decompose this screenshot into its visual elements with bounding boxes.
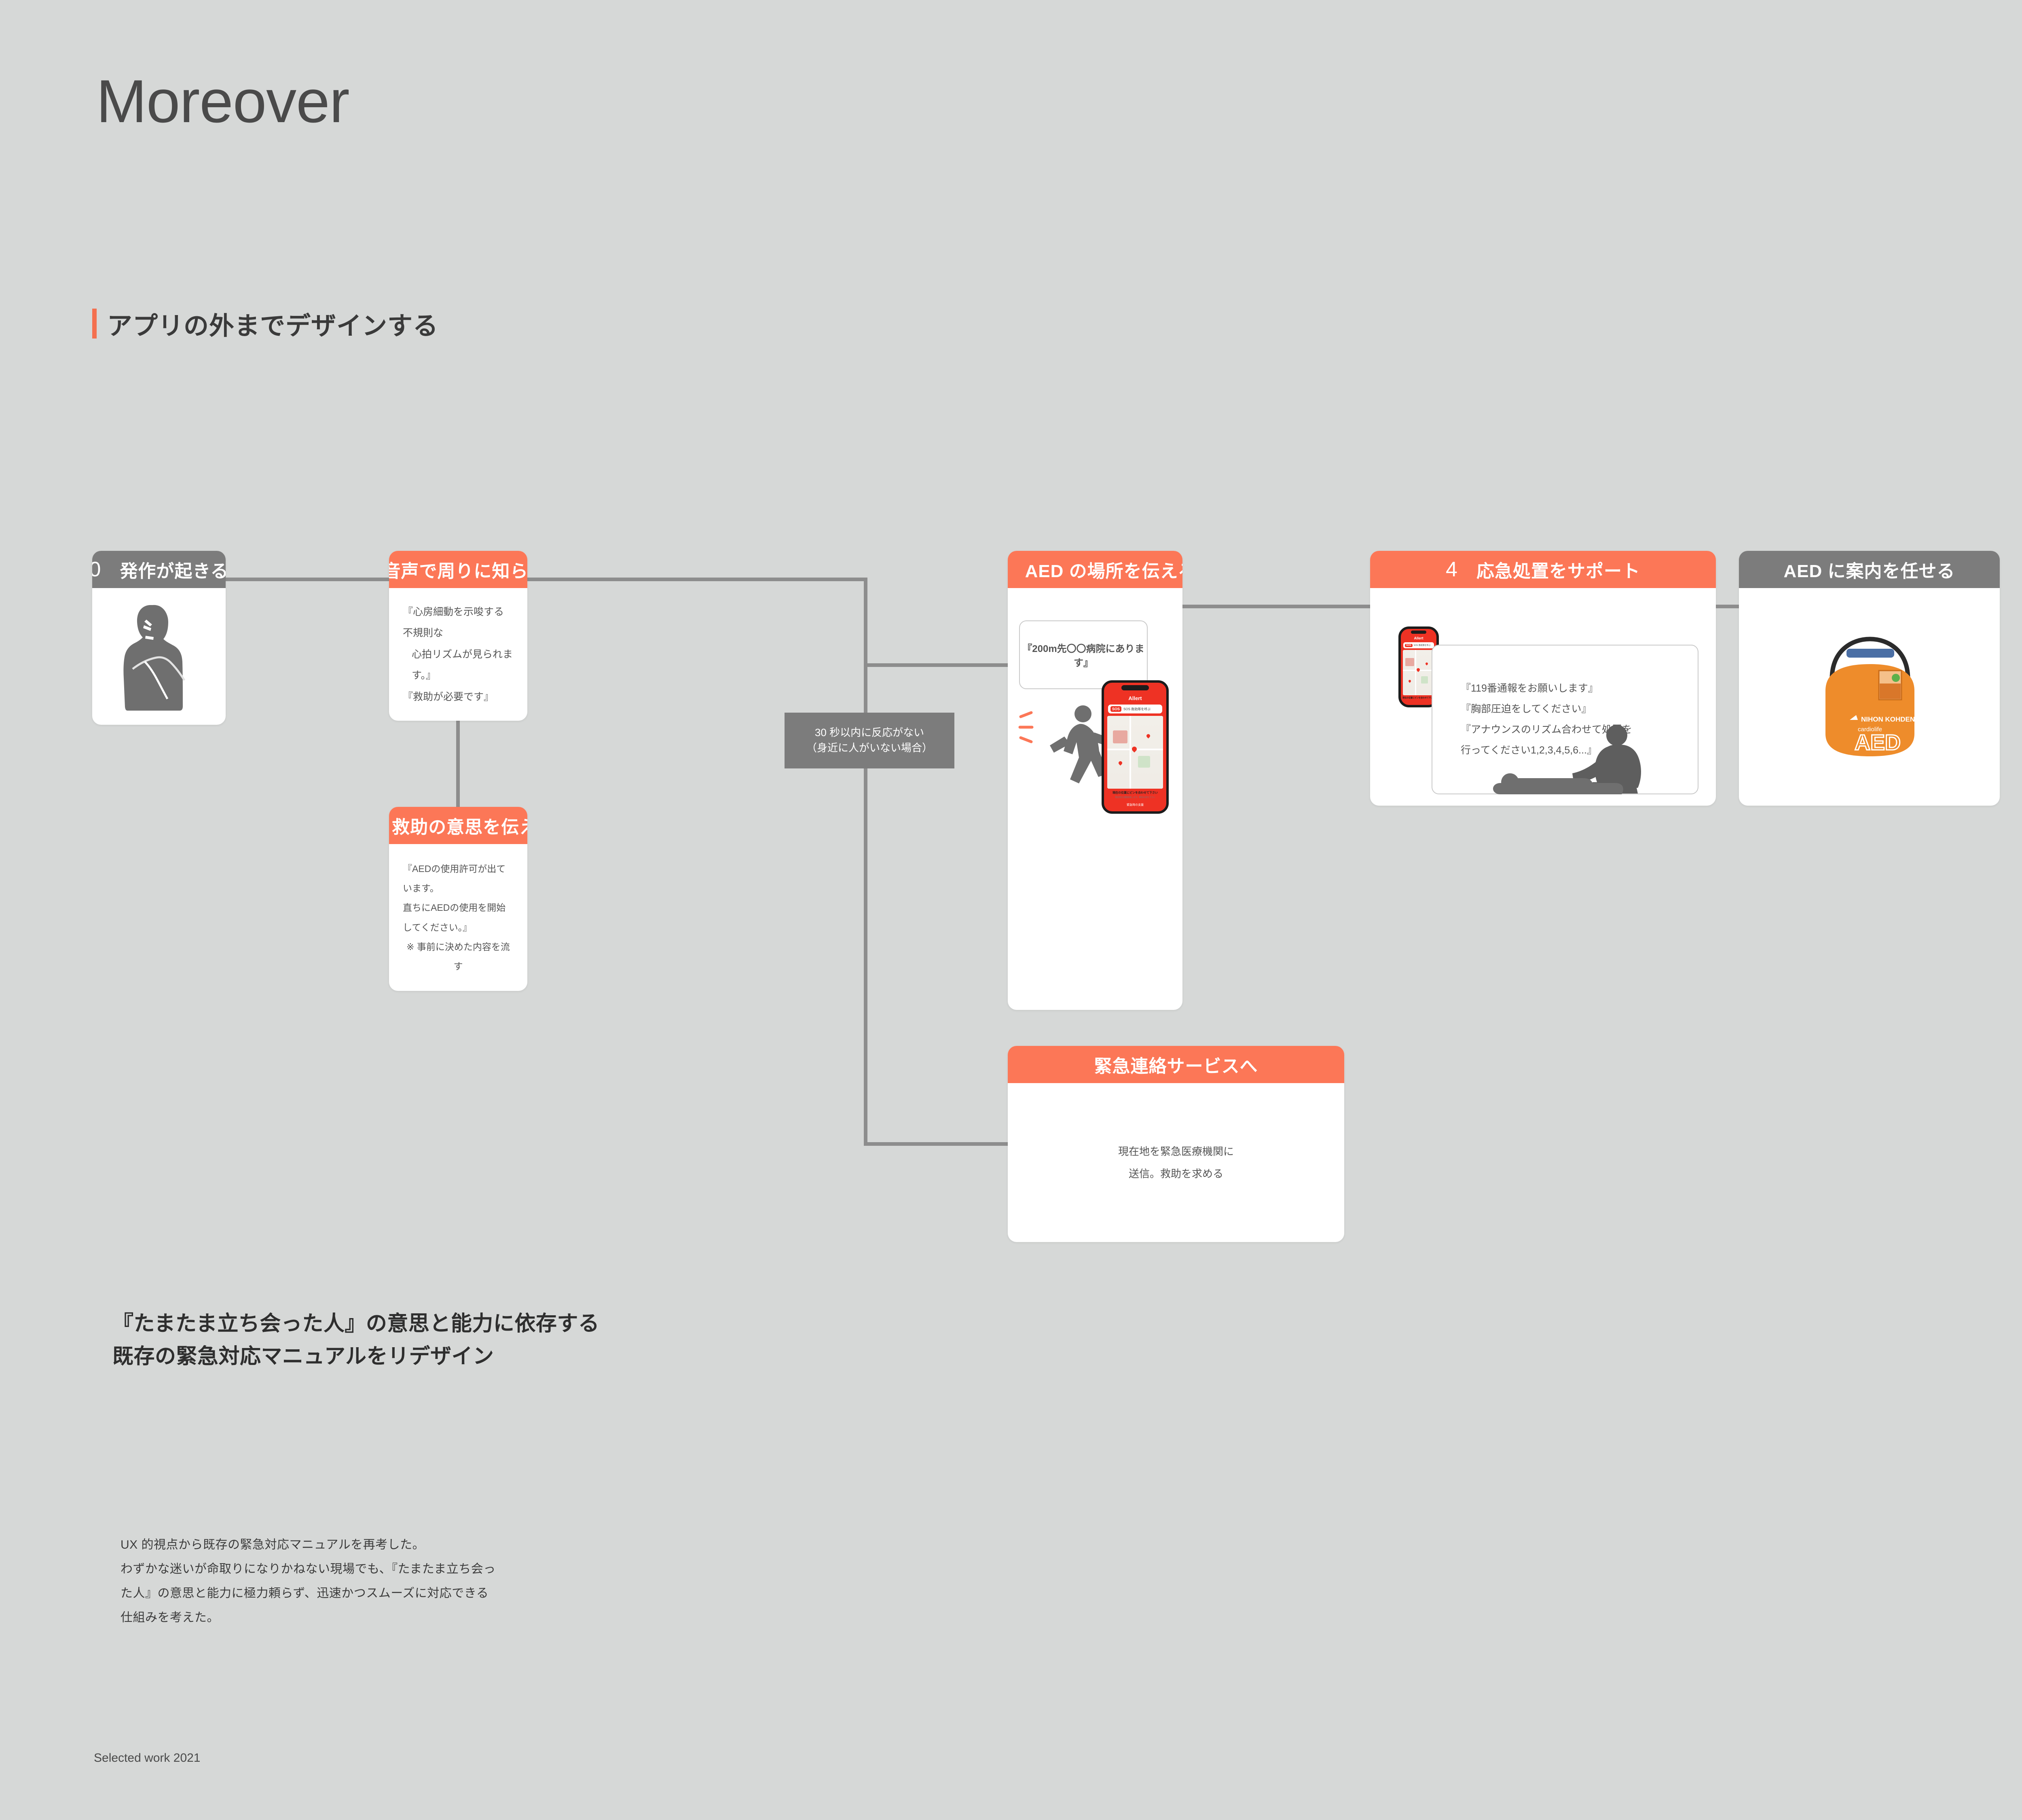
flow-card-3-balloon: 『200m先〇〇病院にあります』 <box>1019 620 1148 689</box>
chest-pain-person-icon <box>121 602 197 711</box>
flow-card-aed-caption: AED に案内を任せる <box>1739 551 2000 588</box>
svg-text:NIHON KOHDEN: NIHON KOHDEN <box>1861 715 1915 723</box>
quote-line: ※ 事前に決めた内容を流す <box>403 937 514 976</box>
phone-app-name: Allert <box>1401 636 1436 640</box>
left-lead-copy: 『たまたま立ち会った人』の意思と能力に依存する 既存の緊急対応マニュアルをリデザ… <box>112 1308 599 1373</box>
lead-line: 既存の緊急対応マニュアルをリデザイン <box>112 1340 599 1373</box>
accent-bar-icon <box>92 309 97 339</box>
flow-card-4-title: 応急処置をサポート <box>1476 557 1640 582</box>
flow-card-0-caption: 0 発作が起きる <box>92 551 226 588</box>
svg-text:AED: AED <box>1855 730 1901 755</box>
flow-card-4-caption: 4 応急処置をサポート <box>1370 551 1716 588</box>
flow-card-emergency-body: 現在地を緊急医療機関に 送信。救助を求める <box>1008 1083 1344 1242</box>
decision-label: 30 秒以内に反応がない （身近に人がいない場合） <box>785 713 954 768</box>
phone-notch-icon <box>1411 631 1427 634</box>
phone-notch-icon <box>1121 685 1149 690</box>
phone-map-caption: 現在の位置にピンを合わせて下さい <box>1104 791 1166 795</box>
flow-card-2-title: 救助の意思を伝える <box>392 813 527 838</box>
flow-card-emergency[interactable]: 緊急連絡サービスへ 現在地を緊急医療機関に 送信。救助を求める <box>1008 1046 1344 1242</box>
flow-card-0-number: 0 <box>92 557 101 582</box>
lead-line: 『たまたま立ち会った人』の意思と能力に依存する <box>112 1308 599 1340</box>
flow-card-1-caption: 1 音声で周りに知らせる <box>389 551 527 588</box>
flow-card-3-quote: 『200m先〇〇病院にあります』 <box>1020 641 1147 669</box>
connector-1-to-2 <box>456 721 460 808</box>
quote-line: 現在地を緊急医療機関に <box>1022 1141 1330 1163</box>
flow-card-2-body: 『AEDの使用許可が出ています。 直ちにAEDの使用を開始してください。』 ※ … <box>389 844 527 991</box>
connector-trunk-to-emergency <box>864 1142 1009 1146</box>
page-title: Moreover <box>96 71 349 131</box>
flow-card-emergency-title: 緊急連絡サービスへ <box>1094 1052 1258 1077</box>
quote-line: 心拍リズムが見られます。』 <box>403 644 514 686</box>
section-heading-left-label: アプリの外までデザインする <box>107 305 438 342</box>
connector-1-to-trunk <box>527 578 867 581</box>
quote-line: 『救助が必要です』 <box>403 686 514 708</box>
flow-card-4-body: Allert SOS SOS 救助隊を呼ぶ 現在の位置にピンを合わせて下さい 『… <box>1370 588 1716 806</box>
flow-card-2-quote: 『AEDの使用許可が出ています。 直ちにAEDの使用を開始してください。』 ※ … <box>403 859 514 976</box>
connector-4-to-aed <box>1716 605 1740 608</box>
phone-map-view <box>1403 650 1434 695</box>
phone-mockup-card-3: Allert SOS SOS 救助隊を呼ぶ 現在の位置にピンを合わせて下さい 現… <box>1102 680 1169 814</box>
para-line: UX 的視点から既存の緊急対応マニュアルを再考した。 <box>121 1533 496 1557</box>
flow-card-3-body: 『200m先〇〇病院にあります』 Allert SOS SOS 救助隊を呼ぶ <box>1008 588 1182 1010</box>
footer-left: Selected work 2021 <box>94 1751 201 1765</box>
phone-map-caption: 現在の位置にピンを合わせて下さい <box>1401 696 1436 699</box>
phone-primary-button[interactable]: 緊急時の支援 <box>1110 801 1161 808</box>
quote-line: 送信。救助を求める <box>1022 1163 1330 1185</box>
flow-card-0[interactable]: 0 発作が起きる <box>92 551 226 725</box>
connector-0-to-1 <box>225 578 391 581</box>
cpr-person-icon <box>1491 722 1669 798</box>
phone-primary-button[interactable] <box>1405 701 1432 705</box>
phone-sos-button[interactable]: SOS SOS 救助隊を呼ぶ <box>1403 642 1434 648</box>
sos-badge-icon: SOS <box>1405 644 1413 647</box>
flow-card-4[interactable]: 4 応急処置をサポート Allert SOS SOS 救助隊を呼ぶ 現在の位置に… <box>1370 551 1716 806</box>
phone-map-sub: 現在地を自動取得します。数秒お待ち下さい <box>1104 796 1166 799</box>
quote-line: 『119番通報をお願いします』 <box>1461 678 1698 699</box>
aed-device-icon: NIHON KOHDEN cardiolife AED <box>1811 630 1928 764</box>
quote-line: 『心房細動を示唆する不規則な <box>403 601 514 644</box>
quote-line: 『AEDの使用許可が出ています。 <box>403 859 514 898</box>
quote-line: 直ちにAEDの使用を開始してください。』 <box>403 898 514 937</box>
flow-card-emergency-quote: 現在地を緊急医療機関に 送信。救助を求める <box>1022 1141 1330 1185</box>
flow-card-2-caption: 2 救助の意思を伝える <box>389 807 527 844</box>
sos-badge-icon: SOS <box>1110 706 1121 712</box>
flow-card-3[interactable]: 3 AED の場所を伝える 『200m先〇〇病院にあります』 Allert <box>1008 551 1182 1010</box>
flow-card-1[interactable]: 1 音声で周りに知らせる 『心房細動を示唆する不規則な 心拍リズムが見られます。… <box>389 551 527 721</box>
motion-lines-icon <box>1017 709 1049 746</box>
connector-trunk-vertical <box>864 578 867 1146</box>
flow-card-aed-body: NIHON KOHDEN cardiolife AED <box>1739 588 2000 806</box>
connector-3-to-4 <box>1182 605 1371 608</box>
para-line: 仕組みを考えた。 <box>121 1606 496 1630</box>
decision-line-1: 30 秒以内に反応がない <box>815 725 924 741</box>
flow-card-aed[interactable]: AED に案内を任せる NIHON KOHDEN cardiolife AED <box>1739 551 2000 806</box>
phone-sos-label: SOS 救助隊を呼ぶ <box>1123 707 1151 711</box>
connector-trunk-to-3 <box>864 663 1009 667</box>
flow-card-4-number: 4 <box>1446 557 1458 582</box>
phone-app-name: Allert <box>1104 695 1166 701</box>
quote-line: 『胸部圧迫をしてください』 <box>1461 699 1698 720</box>
phone-map-view <box>1107 716 1163 789</box>
flow-card-emergency-caption: 緊急連絡サービスへ <box>1008 1046 1344 1083</box>
flow-card-aed-title: AED に案内を任せる <box>1783 557 1955 582</box>
flow-card-3-title: AED の場所を伝える <box>1025 557 1182 582</box>
flow-card-0-title: 発作が起きる <box>120 557 226 582</box>
flow-card-1-quote: 『心房細動を示唆する不規則な 心拍リズムが見られます。』 『救助が必要です』 <box>403 601 514 708</box>
phone-sos-button[interactable]: SOS SOS 救助隊を呼ぶ <box>1108 705 1162 713</box>
flow-card-1-body: 『心房細動を示唆する不規則な 心拍リズムが見られます。』 『救助が必要です』 <box>389 588 527 721</box>
para-line: わずかな迷いが命取りになりかねない現場でも、『たまたま立ち会っ <box>121 1557 496 1581</box>
flow-card-1-title: 音声で周りに知らせる <box>389 557 527 582</box>
para-line: た人』の意思と能力に極力頼らず、迅速かつスムーズに対応できる <box>121 1581 496 1606</box>
section-heading-left: アプリの外までデザインする <box>92 305 438 342</box>
flow-card-2[interactable]: 2 救助の意思を伝える 『AEDの使用許可が出ています。 直ちにAEDの使用を開… <box>389 807 527 991</box>
flow-card-0-body <box>92 588 226 725</box>
left-paragraph: UX 的視点から既存の緊急対応マニュアルを再考した。 わずかな迷いが命取りになり… <box>121 1533 496 1630</box>
decision-line-2: （身近に人がいない場合） <box>806 741 933 756</box>
phone-sos-label: SOS 救助隊を呼ぶ <box>1414 644 1431 647</box>
flow-card-3-caption: 3 AED の場所を伝える <box>1008 551 1182 588</box>
